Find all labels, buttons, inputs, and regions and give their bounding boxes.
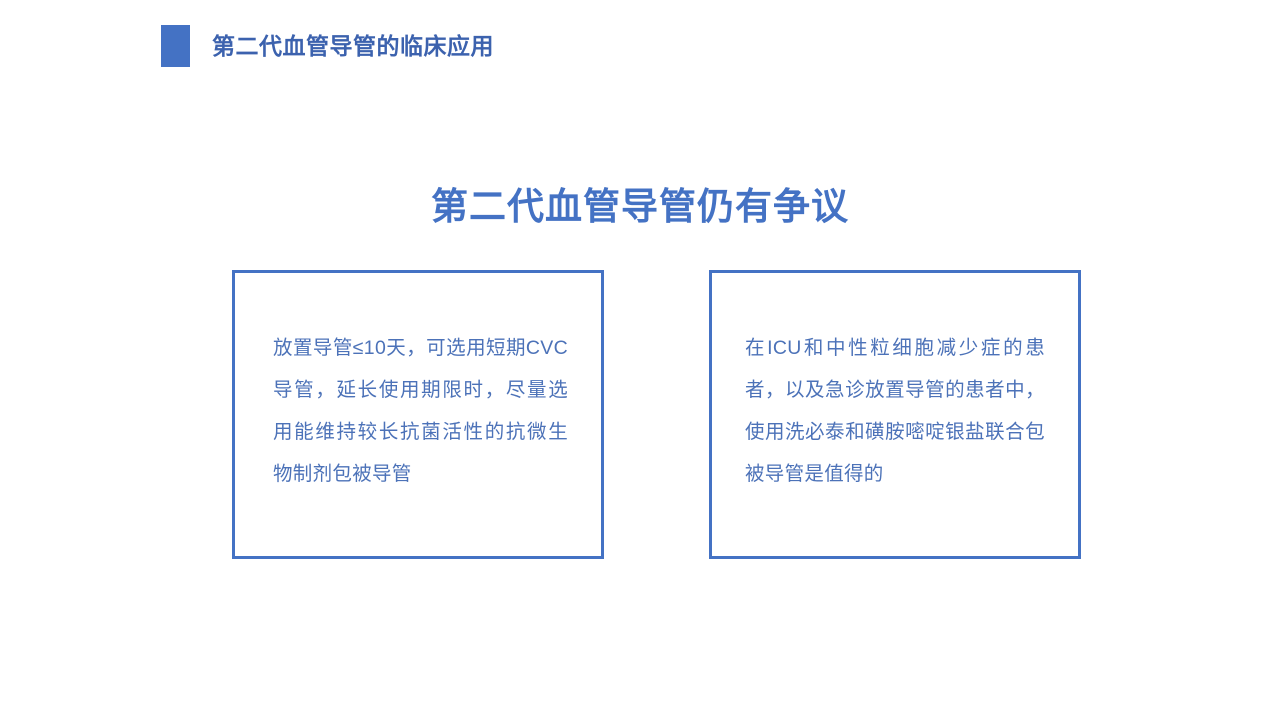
slide-canvas: 第二代血管导管的临床应用 第二代血管导管仍有争议 放置导管≤10天，可选用短期C… [0,0,1280,720]
header-accent-square [161,25,190,67]
content-card-left-text: 放置导管≤10天，可选用短期CVC导管，延长使用期限时，尽量选用能维持较长抗菌活… [273,327,568,495]
content-card-right-text: 在ICU和中性粒细胞减少症的患者，以及急诊放置导管的患者中，使用洗必泰和磺胺嘧啶… [745,327,1045,495]
page-title: 第二代血管导管仍有争议 [0,185,1280,229]
content-card-left: 放置导管≤10天，可选用短期CVC导管，延长使用期限时，尽量选用能维持较长抗菌活… [232,270,604,559]
header-title: 第二代血管导管的临床应用 [212,35,494,58]
slide-header: 第二代血管导管的临床应用 [161,25,494,67]
content-card-right: 在ICU和中性粒细胞减少症的患者，以及急诊放置导管的患者中，使用洗必泰和磺胺嘧啶… [709,270,1081,559]
